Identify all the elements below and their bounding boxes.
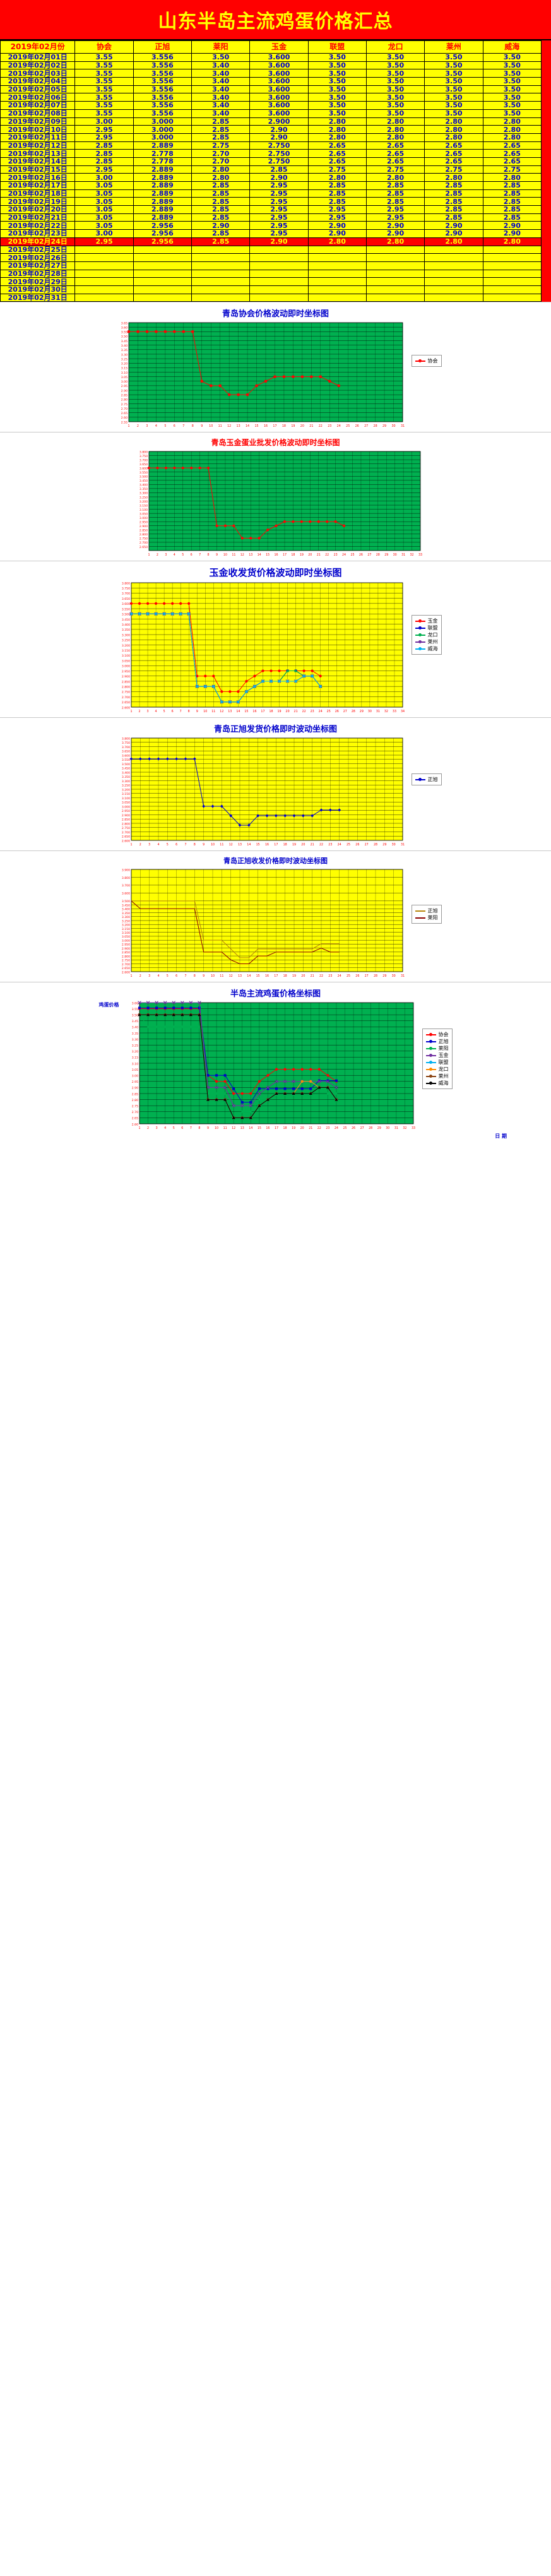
chart-title: 青岛正旭收发价格即时波动坐标图	[0, 854, 551, 867]
table-col-header-3: 莱阳	[192, 41, 250, 54]
svg-text:12: 12	[220, 710, 223, 713]
table-row[interactable]: 2019年02月11日2.953.0002.852.902.802.802.80…	[1, 133, 542, 141]
svg-text:15: 15	[256, 974, 259, 978]
table-cell-value: 2.90	[308, 222, 366, 230]
svg-text:3.350: 3.350	[121, 775, 129, 779]
svg-text:32: 32	[410, 553, 413, 557]
svg-text:29: 29	[384, 553, 388, 557]
svg-text:3.100: 3.100	[139, 508, 147, 512]
svg-text:11: 11	[220, 974, 223, 978]
table-row[interactable]: 2019年02月04日3.553.5563.403.6003.503.503.5…	[1, 78, 542, 86]
table-cell-value: 3.40	[192, 102, 250, 110]
legend-swatch-icon	[415, 641, 425, 643]
svg-text:2: 2	[156, 553, 158, 557]
table-row[interactable]: 2019年02月17日3.052.8892.852.952.852.852.85…	[1, 182, 542, 190]
svg-text:3.150: 3.150	[121, 649, 129, 653]
svg-text:24: 24	[342, 553, 346, 557]
table-row[interactable]: 2019年02月08日3.553.5563.403.6003.503.503.5…	[1, 109, 542, 117]
svg-text:16: 16	[252, 710, 256, 713]
table-cell-value: 2.900	[250, 117, 308, 126]
svg-text:4: 4	[173, 553, 175, 557]
svg-text:10: 10	[210, 843, 214, 847]
legend-label: 莱州	[439, 1073, 449, 1080]
svg-text:34: 34	[400, 710, 404, 713]
chart-xlabel: 日 期	[0, 1133, 551, 1140]
svg-text:12: 12	[227, 424, 231, 428]
table-cell-value: 3.600	[250, 85, 308, 93]
table-cell-value: 2.75	[308, 165, 366, 174]
table-row[interactable]: 2019年02月29日	[1, 278, 542, 286]
table-row[interactable]: 2019年02月03日3.553.5563.403.6003.503.503.5…	[1, 69, 542, 78]
table-cell-value	[250, 294, 308, 302]
svg-text:2.65: 2.65	[121, 412, 127, 415]
svg-text:29: 29	[382, 974, 386, 978]
table-cell-value: 2.80	[483, 174, 541, 182]
table-row[interactable]: 2019年02月16日3.002.8892.802.902.802.802.80…	[1, 174, 542, 182]
table-cell-value: 2.90	[483, 222, 541, 230]
svg-text:7: 7	[179, 710, 181, 713]
table-cell-value: 3.55	[75, 69, 133, 78]
chart-plot-area: 3.8003.7503.7003.6503.6003.5503.5003.450…	[110, 580, 406, 716]
legend-label: 正旭	[428, 776, 438, 783]
table-cell-value: 3.000	[133, 126, 191, 134]
svg-text:4: 4	[155, 710, 157, 713]
svg-text:3.650: 3.650	[121, 597, 129, 601]
table-cell-value: 2.90	[366, 230, 424, 238]
table-cell-value	[133, 278, 191, 286]
svg-text:20: 20	[285, 710, 289, 713]
table-cell-value	[250, 270, 308, 278]
table-row[interactable]: 2019年02月12日2.852.8892.752.7502.652.652.6…	[1, 141, 542, 150]
table-cell-value: 3.50	[366, 85, 424, 93]
page-title: 山东半岛主流鸡蛋价格汇总	[158, 6, 393, 33]
table-cell-value: 2.90	[483, 230, 541, 238]
svg-text:17: 17	[261, 710, 264, 713]
table-cell-value: 3.05	[75, 182, 133, 190]
table-row[interactable]: 2019年02月14日2.852.7782.702.7502.652.652.6…	[1, 157, 542, 165]
svg-text:18: 18	[269, 710, 273, 713]
legend-item: 莱阳	[415, 914, 438, 921]
svg-text:14: 14	[246, 424, 249, 428]
table-cell-value: 3.55	[75, 93, 133, 102]
chart-plot-area: 3.8003.7503.7003.6503.6003.5503.5003.450…	[127, 449, 424, 559]
table-cell-value: 3.50	[483, 78, 541, 86]
svg-text:14: 14	[247, 974, 251, 978]
table-row[interactable]: 2019年02月01日3.553.5563.503.6003.503.503.5…	[1, 54, 542, 62]
table-cell-date: 2019年02月21日	[1, 213, 75, 222]
table-cell-value: 3.50	[425, 78, 483, 86]
svg-text:14: 14	[257, 553, 261, 557]
svg-text:22: 22	[325, 553, 329, 557]
svg-text:10: 10	[210, 974, 214, 978]
svg-text:3.150: 3.150	[121, 792, 129, 796]
table-cell-value	[133, 246, 191, 254]
table-cell-value: 2.95	[366, 213, 424, 222]
legend-label: 莱阳	[428, 914, 438, 921]
table-cell-value: 2.85	[192, 213, 250, 222]
svg-text:3.600: 3.600	[121, 602, 129, 606]
table-body: 2019年02月01日3.553.5563.503.6003.503.503.5…	[1, 54, 542, 302]
svg-text:2.70: 2.70	[131, 1111, 138, 1114]
svg-text:23: 23	[333, 553, 337, 557]
table-cell-value: 3.50	[483, 102, 541, 110]
svg-text:28: 28	[373, 974, 377, 978]
svg-text:2.850: 2.850	[121, 818, 129, 822]
legend-item: 莱州	[426, 1073, 449, 1080]
table-row[interactable]: 2019年02月18日3.052.8892.852.952.852.852.85…	[1, 189, 542, 198]
legend-label: 联盟	[439, 1059, 449, 1066]
svg-text:3.100: 3.100	[121, 797, 129, 801]
svg-text:4: 4	[155, 424, 157, 428]
table-cell-value: 2.75	[483, 165, 541, 174]
svg-text:3.750: 3.750	[121, 587, 129, 591]
svg-text:3.35: 3.35	[131, 1032, 138, 1036]
table-cell-value	[192, 285, 250, 294]
chart-body: 3.8003.7503.7003.6503.6003.5503.5003.450…	[0, 736, 551, 849]
table-row[interactable]: 2019年02月24日2.952.9562.852.902.802.802.80…	[1, 237, 542, 246]
table-row[interactable]: 2019年02月21日3.052.8892.852.952.952.952.85…	[1, 213, 542, 222]
svg-text:3.600: 3.600	[121, 754, 129, 758]
table-row[interactable]: 2019年02月13日2.852.7782.702.7502.652.652.6…	[1, 150, 542, 158]
svg-text:26: 26	[358, 553, 362, 557]
legend-label: 莱州	[428, 638, 438, 645]
table-row[interactable]: 2019年02月30日	[1, 285, 542, 294]
table-cell-value: 2.778	[133, 150, 191, 158]
svg-text:3: 3	[146, 424, 148, 428]
svg-text:29: 29	[377, 1126, 381, 1130]
table-row[interactable]: 2019年02月27日	[1, 261, 542, 270]
table-cell-value: 3.55	[75, 102, 133, 110]
svg-text:30: 30	[367, 710, 371, 713]
table-row[interactable]: 2019年02月10日2.953.0002.852.902.802.802.80…	[1, 126, 542, 134]
svg-text:3.500: 3.500	[121, 900, 129, 903]
svg-text:3.35: 3.35	[121, 349, 127, 352]
table-cell-value: 2.85	[425, 206, 483, 214]
table-cell-value: 2.95	[308, 206, 366, 214]
svg-text:13: 13	[237, 974, 241, 978]
table-row[interactable]: 2019年02月20日3.052.8892.852.952.952.952.85…	[1, 206, 542, 214]
svg-text:23: 23	[328, 424, 331, 428]
svg-text:2.80: 2.80	[131, 1099, 138, 1102]
legend-item: 威海	[415, 645, 438, 652]
table-cell-value: 2.889	[133, 141, 191, 150]
table-cell-value: 2.85	[75, 141, 133, 150]
svg-text:2.95: 2.95	[131, 1080, 138, 1084]
svg-text:6: 6	[190, 553, 192, 557]
table-cell-date: 2019年02月15日	[1, 165, 75, 174]
table-cell-value: 2.95	[75, 133, 133, 141]
svg-text:20: 20	[301, 843, 305, 847]
legend-label: 协会	[439, 1031, 449, 1038]
table-cell-value: 2.85	[250, 165, 308, 174]
table-cell-value: 2.80	[425, 117, 483, 126]
table-cell-date: 2019年02月27日	[1, 261, 75, 270]
legend-item: 正旭	[415, 776, 438, 783]
table-cell-value: 2.85	[308, 182, 366, 190]
table-cell-value: 3.556	[133, 93, 191, 102]
table-row[interactable]: 2019年02月25日	[1, 246, 542, 254]
table-cell-value	[133, 254, 191, 262]
svg-text:20: 20	[300, 1126, 304, 1130]
table-cell-value: 3.55	[75, 61, 133, 69]
svg-text:14: 14	[247, 843, 251, 847]
svg-text:30: 30	[386, 1126, 389, 1130]
svg-text:12: 12	[228, 843, 232, 847]
table-cell-date: 2019年02月07日	[1, 102, 75, 110]
svg-text:24: 24	[337, 843, 341, 847]
table-cell-date: 2019年02月18日	[1, 189, 75, 198]
svg-text:3.150: 3.150	[139, 504, 147, 508]
table-cell-value: 3.55	[75, 85, 133, 93]
table-cell-value: 2.65	[483, 150, 541, 158]
chart-plot-area: 3.653.603.553.503.453.403.353.303.253.20…	[110, 320, 406, 431]
legend-item: 莱阳	[426, 1045, 449, 1052]
table-cell-value: 2.85	[483, 206, 541, 214]
table-cell-value: 3.50	[366, 69, 424, 78]
table-cell-value: 2.956	[133, 237, 191, 246]
table-cell-value	[192, 270, 250, 278]
svg-text:3.450: 3.450	[121, 904, 129, 908]
svg-text:3.750: 3.750	[139, 455, 147, 458]
table-cell-date: 2019年02月10日	[1, 126, 75, 134]
chart-legend: 协会正旭莱阳玉金联盟龙口莱州威海	[422, 1029, 453, 1089]
svg-text:2.750: 2.750	[139, 537, 147, 541]
svg-text:26: 26	[355, 424, 358, 428]
svg-text:10: 10	[203, 710, 207, 713]
table-cell-value: 3.05	[75, 198, 133, 206]
svg-text:6: 6	[175, 974, 177, 978]
svg-text:1: 1	[148, 553, 150, 557]
table-row[interactable]: 2019年02月15日2.952.8892.802.852.752.752.75…	[1, 165, 542, 174]
table-cell-value: 3.40	[192, 109, 250, 117]
table-cell-value: 2.80	[425, 174, 483, 182]
table-cell-date: 2019年02月29日	[1, 278, 75, 286]
svg-text:15: 15	[257, 1126, 261, 1130]
legend-item: 协会	[426, 1031, 449, 1038]
chart-plot-area: 3.9003.8003.7003.6003.5003.4503.4003.350…	[110, 867, 406, 981]
table-col-header-4: 玉金	[250, 41, 308, 54]
legend-label: 龙口	[428, 631, 438, 638]
table-row[interactable]: 2019年02月22日3.052.9562.902.952.902.902.90…	[1, 222, 542, 230]
svg-text:2.800: 2.800	[121, 955, 129, 959]
table-cell-value: 3.05	[75, 213, 133, 222]
table-cell-value: 2.80	[192, 165, 250, 174]
svg-text:2.950: 2.950	[139, 521, 147, 525]
table-cell-value: 2.80	[366, 237, 424, 246]
table-cell-date: 2019年02月09日	[1, 117, 75, 126]
table-cell-value: 2.80	[483, 237, 541, 246]
table-cell-value: 2.70	[192, 150, 250, 158]
svg-text:18: 18	[283, 1126, 287, 1130]
table-cell-value: 2.90	[192, 222, 250, 230]
table-cell-date: 2019年02月16日	[1, 174, 75, 182]
table-row[interactable]: 2019年02月23日3.002.9562.852.952.902.902.90…	[1, 230, 542, 238]
table-cell-value: 2.95	[250, 230, 308, 238]
table-cell-value: 2.90	[250, 133, 308, 141]
table-cell-value: 2.778	[133, 157, 191, 165]
price-table: 2019年02月份协会正旭莱阳玉金联盟龙口莱州威海 2019年02月01日3.5…	[0, 40, 542, 302]
svg-text:3.00: 3.00	[131, 1075, 138, 1078]
svg-text:2.85: 2.85	[131, 1093, 138, 1097]
table-row[interactable]: 2019年02月19日3.052.8892.852.952.852.852.85…	[1, 198, 542, 206]
table-cell-value	[483, 254, 541, 262]
svg-text:30: 30	[391, 843, 395, 847]
svg-text:3.50: 3.50	[131, 1014, 138, 1018]
svg-text:3.400: 3.400	[139, 484, 147, 487]
svg-text:26: 26	[352, 1126, 355, 1130]
svg-text:27: 27	[360, 1126, 364, 1130]
svg-text:3.15: 3.15	[131, 1056, 138, 1060]
table-row[interactable]: 2019年02月28日	[1, 270, 542, 278]
svg-text:3: 3	[148, 843, 150, 847]
svg-text:2.850: 2.850	[121, 951, 129, 955]
table-cell-value: 3.600	[250, 54, 308, 62]
table-cell-value: 3.50	[483, 93, 541, 102]
svg-text:30: 30	[391, 424, 395, 428]
table-cell-value	[133, 285, 191, 294]
svg-text:2.750: 2.750	[121, 826, 129, 830]
table-cell-value	[483, 285, 541, 294]
svg-text:10: 10	[223, 553, 227, 557]
table-cell-value: 3.50	[425, 85, 483, 93]
legend-swatch-icon	[415, 648, 425, 650]
svg-text:5: 5	[164, 424, 166, 428]
svg-text:33: 33	[418, 553, 422, 557]
svg-text:1: 1	[130, 974, 132, 978]
legend-label: 玉金	[439, 1052, 449, 1059]
table-col-header-7: 莱州	[425, 41, 483, 54]
table-cell-value: 2.90	[250, 237, 308, 246]
table-row[interactable]: 2019年02月02日3.553.5563.403.6003.503.503.5…	[1, 61, 542, 69]
table-cell-value: 3.50	[308, 102, 366, 110]
table-cell-value: 3.556	[133, 54, 191, 62]
table-col-header-6: 龙口	[366, 41, 424, 54]
svg-text:5: 5	[166, 974, 168, 978]
table-cell-date: 2019年02月01日	[1, 54, 75, 62]
table-row[interactable]: 2019年02月09日3.003.0002.852.9002.802.802.8…	[1, 117, 542, 126]
svg-text:3.45: 3.45	[131, 1020, 138, 1023]
svg-text:3.40: 3.40	[131, 1026, 138, 1030]
table-cell-value: 2.85	[192, 198, 250, 206]
table-row[interactable]: 2019年02月05日3.553.5563.403.6003.503.503.5…	[1, 85, 542, 93]
svg-text:3.60: 3.60	[131, 1002, 138, 1006]
svg-text:29: 29	[382, 424, 386, 428]
svg-text:2.800: 2.800	[121, 823, 129, 826]
chart-canvas: 3.653.603.553.503.453.403.353.303.253.20…	[110, 320, 406, 431]
svg-text:23: 23	[328, 974, 332, 978]
svg-text:1: 1	[130, 710, 132, 713]
svg-text:3.150: 3.150	[121, 927, 129, 931]
legend-swatch-icon	[426, 1062, 436, 1063]
table-cell-value: 2.95	[75, 165, 133, 174]
svg-text:22: 22	[319, 974, 323, 978]
svg-text:3.700: 3.700	[121, 592, 129, 596]
svg-text:23: 23	[326, 1126, 329, 1130]
table-cell-value	[483, 246, 541, 254]
svg-text:7: 7	[184, 974, 186, 978]
svg-text:2.900: 2.900	[139, 525, 147, 528]
table-row[interactable]: 2019年02月06日3.553.5563.403.6003.503.503.5…	[1, 93, 542, 102]
svg-text:24: 24	[337, 974, 341, 978]
svg-text:2: 2	[147, 1126, 149, 1130]
table-cell-value: 3.600	[250, 78, 308, 86]
svg-text:26: 26	[355, 843, 359, 847]
svg-text:3.65: 3.65	[121, 322, 127, 326]
table-row[interactable]: 2019年02月07日3.553.5563.403.6003.503.503.5…	[1, 102, 542, 110]
table-cell-value: 2.65	[308, 157, 366, 165]
svg-text:3.400: 3.400	[121, 772, 129, 775]
table-cell-value: 3.55	[75, 78, 133, 86]
svg-text:4: 4	[157, 843, 159, 847]
svg-text:30: 30	[393, 553, 396, 557]
svg-text:3.55: 3.55	[121, 331, 127, 335]
table-cell-value: 3.40	[192, 78, 250, 86]
chart-body: 3.8003.7503.7003.6503.6003.5503.5003.450…	[0, 580, 551, 716]
chart-ylabel: 鸡蛋价格	[99, 1001, 119, 1008]
table-cell-value	[250, 246, 308, 254]
table-row[interactable]: 2019年02月26日	[1, 254, 542, 262]
svg-text:1: 1	[138, 1126, 140, 1130]
table-cell-value	[192, 254, 250, 262]
legend-label: 威海	[428, 645, 438, 652]
chart-body: 鸡蛋价格3.603.553.503.453.403.353.303.253.20…	[0, 1000, 551, 1133]
table-cell-value: 3.600	[250, 109, 308, 117]
table-cell-value	[483, 278, 541, 286]
table-cell-value	[308, 270, 366, 278]
table-cell-value: 3.50	[366, 93, 424, 102]
table-cell-value: 3.50	[192, 54, 250, 62]
svg-text:2.75: 2.75	[131, 1105, 138, 1109]
table-cell-date: 2019年02月20日	[1, 206, 75, 214]
table-cell-value: 2.90	[250, 126, 308, 134]
table-cell-value: 3.40	[192, 61, 250, 69]
chart-block-chart-bandao: 半岛主流鸡蛋价格坐标图鸡蛋价格3.603.553.503.453.403.353…	[0, 982, 551, 1141]
svg-text:32: 32	[384, 710, 388, 713]
table-cell-value: 3.00	[75, 174, 133, 182]
table-cell-value: 2.95	[250, 182, 308, 190]
svg-text:3.750: 3.750	[121, 741, 129, 745]
legend-item: 玉金	[426, 1052, 449, 1059]
svg-text:2.600: 2.600	[121, 971, 129, 975]
table-cell-value: 2.85	[192, 237, 250, 246]
svg-text:3.500: 3.500	[121, 763, 129, 766]
chart-title: 青岛正旭发货价格即时波动坐标图	[0, 720, 551, 736]
table-col-header-1: 协会	[75, 41, 133, 54]
svg-text:3.300: 3.300	[139, 492, 147, 496]
svg-text:3.250: 3.250	[121, 784, 129, 788]
svg-text:12: 12	[232, 1126, 235, 1130]
svg-text:5: 5	[182, 553, 184, 557]
svg-text:3.300: 3.300	[121, 780, 129, 784]
svg-text:3.000: 3.000	[121, 806, 129, 809]
table-cell-value: 3.50	[308, 109, 366, 117]
svg-text:3.800: 3.800	[139, 451, 147, 455]
svg-text:11: 11	[218, 424, 222, 428]
table-cell-value: 3.600	[250, 93, 308, 102]
svg-text:3.050: 3.050	[121, 801, 129, 805]
svg-text:2.650: 2.650	[139, 546, 147, 549]
page-title-banner: 山东半岛主流鸡蛋价格汇总	[0, 0, 551, 40]
table-row[interactable]: 2019年02月31日	[1, 294, 542, 302]
chart-body: 3.653.603.553.503.453.403.353.303.253.20…	[0, 320, 551, 431]
svg-text:3.700: 3.700	[121, 885, 129, 888]
svg-text:3.05: 3.05	[121, 376, 127, 379]
svg-text:22: 22	[319, 843, 323, 847]
svg-text:2.600: 2.600	[121, 840, 129, 844]
svg-text:24: 24	[334, 1126, 338, 1130]
table-cell-value	[192, 294, 250, 302]
table-cell-value: 2.85	[192, 189, 250, 198]
